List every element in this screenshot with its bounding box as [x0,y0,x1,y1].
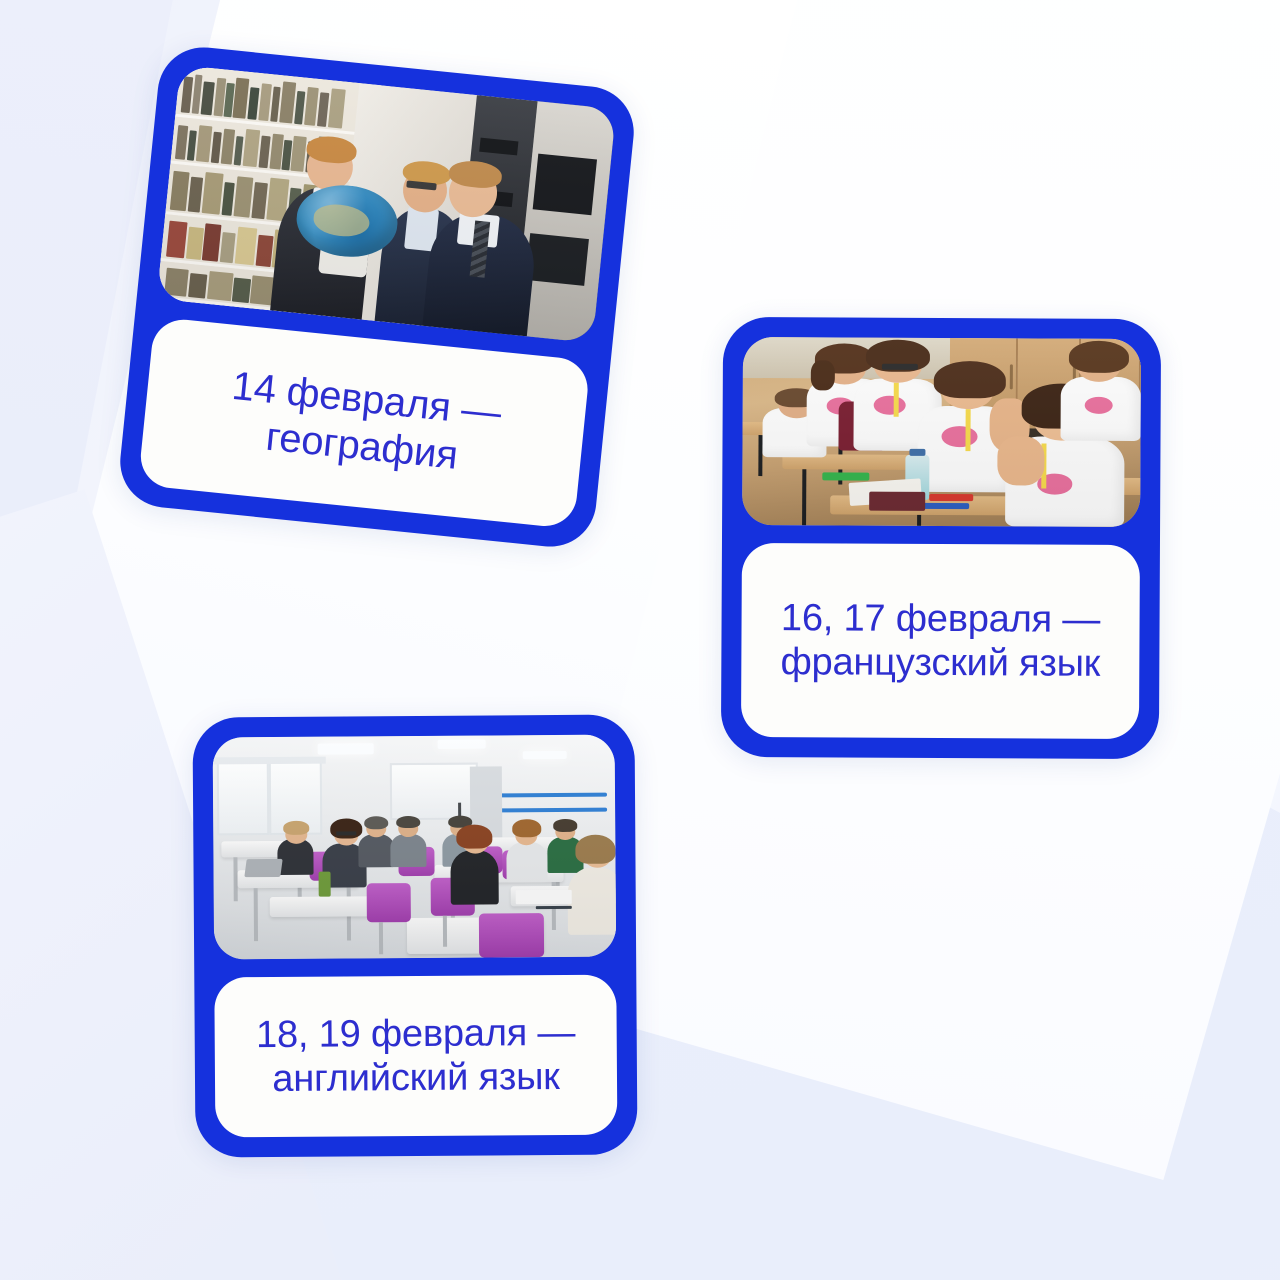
photo-tint [213,735,617,960]
card-label-text: 18, 19 февраля — английский язык [233,1011,600,1102]
photo-tint [157,65,617,343]
card-label-geography: 14 февраля — география [138,317,591,529]
library-scene [157,65,617,343]
schedule-card-geography[interactable]: 14 февраля — география [116,43,638,551]
schedule-card-english[interactable]: 18, 19 февраля — английский язык [192,714,637,1157]
card-label-french: 16, 17 февраля — французский язык [741,543,1140,739]
card-label-text: 14 февраля — география [160,356,569,489]
photo-tint [742,337,1141,527]
card-label-text: 16, 17 февраля — французский язык [759,596,1121,686]
classroom-scene [213,735,617,960]
exam-room-scene [742,337,1141,527]
card-label-english: 18, 19 февраля — английский язык [214,975,617,1138]
exam-room-photo [742,337,1141,527]
schedule-card-french[interactable]: 16, 17 февраля — французский язык [721,317,1161,759]
library-globe-photo [157,65,617,343]
classroom-photo [213,735,617,960]
poster-canvas: 14 февраля — география [0,0,1280,1280]
